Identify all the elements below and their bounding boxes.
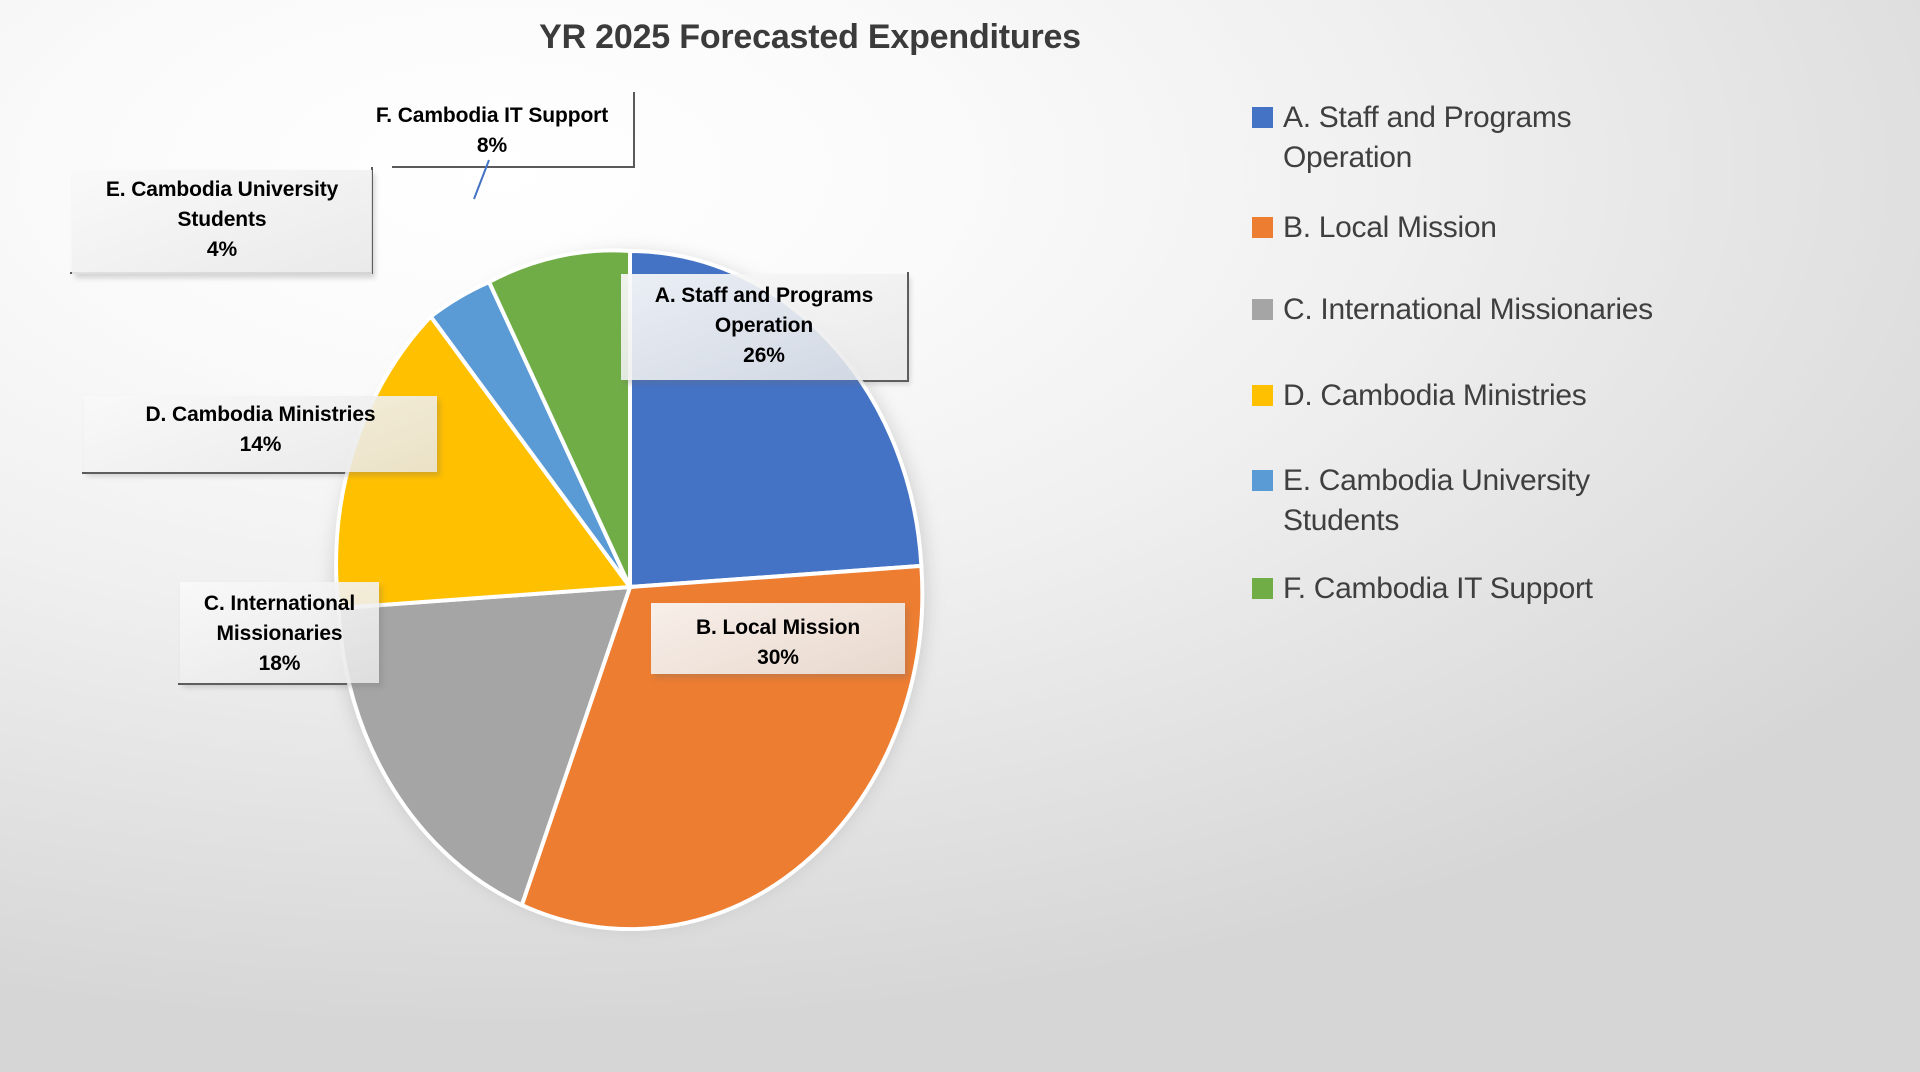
data-label-d-name: D. Cambodia Ministries: [145, 403, 375, 426]
legend-label-c: C. International Missionaries: [1283, 290, 1653, 330]
data-label-b-name: B. Local Mission: [696, 616, 860, 639]
legend-swatch-icon-a: [1252, 107, 1273, 128]
legend-item-c[interactable]: C. International Missionaries: [1252, 290, 1872, 330]
data-label-c-name2: Missionaries: [176, 619, 383, 649]
data-label-c: C. International Missionaries 18%: [176, 589, 383, 678]
leader-line-f-connector: [474, 160, 489, 199]
legend-item-f[interactable]: F. Cambodia IT Support: [1252, 569, 1872, 609]
legend-swatch-icon-d: [1252, 385, 1273, 406]
legend-item-a[interactable]: A. Staff and Programs Operation: [1252, 98, 1872, 178]
data-label-b-value: 30%: [651, 643, 905, 673]
legend-swatch-icon-b: [1252, 217, 1273, 238]
legend-label-f: F. Cambodia IT Support: [1283, 569, 1593, 609]
legend-label-e: E. Cambodia University Students: [1283, 461, 1613, 541]
legend-label-d: D. Cambodia Ministries: [1283, 376, 1587, 416]
data-label-b: B. Local Mission 30%: [651, 613, 905, 673]
legend-label-b: B. Local Mission: [1283, 208, 1497, 248]
legend-label-a: A. Staff and Programs Operation: [1283, 98, 1703, 178]
data-label-f: F. Cambodia IT Support 8%: [370, 101, 614, 161]
data-label-a-name2: Operation: [621, 311, 907, 341]
legend-swatch-icon-e: [1252, 470, 1273, 491]
legend-item-e[interactable]: E. Cambodia University Students: [1252, 461, 1872, 541]
data-label-e-name: E. Cambodia University: [106, 178, 338, 201]
slide-canvas: YR 2025 Forecasted Expenditures: [0, 0, 1920, 1072]
data-label-f-name: F. Cambodia IT Support: [376, 104, 608, 127]
data-label-c-name: C. International: [204, 592, 355, 615]
chart-legend: A. Staff and Programs Operation B. Local…: [1252, 98, 1872, 609]
data-label-c-value: 18%: [176, 649, 383, 679]
data-label-a-value: 26%: [621, 341, 907, 371]
data-label-d: D. Cambodia Ministries 14%: [88, 400, 433, 460]
legend-item-d[interactable]: D. Cambodia Ministries: [1252, 376, 1872, 416]
legend-swatch-icon-c: [1252, 299, 1273, 320]
data-label-e-name2: Students: [76, 205, 368, 235]
data-label-a-name: A. Staff and Programs: [655, 284, 873, 307]
data-label-d-value: 14%: [88, 430, 433, 460]
chart-title: YR 2025 Forecasted Expenditures: [0, 18, 1620, 57]
data-label-a: A. Staff and Programs Operation 26%: [621, 281, 907, 370]
legend-item-b[interactable]: B. Local Mission: [1252, 208, 1872, 248]
data-label-e-value: 4%: [76, 235, 368, 265]
data-label-e: E. Cambodia University Students 4%: [76, 175, 368, 264]
legend-swatch-icon-f: [1252, 578, 1273, 599]
data-label-f-value: 8%: [370, 131, 614, 161]
